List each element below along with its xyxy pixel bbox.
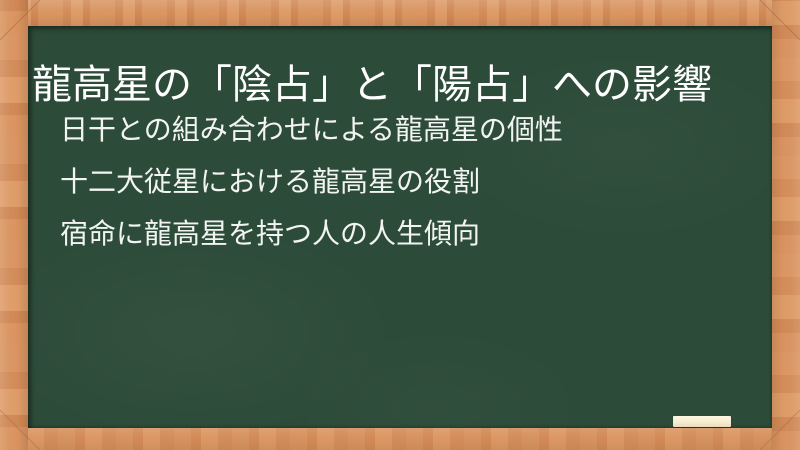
frame-right-plank xyxy=(772,0,800,450)
list-item: 宿命に龍高星を持つ人の人生傾向 xyxy=(60,208,760,260)
chalk-eraser-icon xyxy=(673,416,731,427)
chalkboard-surface: 龍高星の「陰占」と「陽占」への影響 日干との組み合わせによる龍高星の個性 十二大… xyxy=(28,26,772,428)
slide-bullet-list: 日干との組み合わせによる龍高星の個性 十二大従星における龍高星の役割 宿命に龍高… xyxy=(60,104,760,260)
frame-bottom-plank xyxy=(0,428,800,450)
frame-top-plank xyxy=(0,0,800,26)
frame-left-plank xyxy=(0,0,28,450)
list-item: 日干との組み合わせによる龍高星の個性 xyxy=(60,104,760,156)
chalkboard-slide: 龍高星の「陰占」と「陽占」への影響 日干との組み合わせによる龍高星の個性 十二大… xyxy=(0,0,800,450)
list-item: 十二大従星における龍高星の役割 xyxy=(60,156,760,208)
